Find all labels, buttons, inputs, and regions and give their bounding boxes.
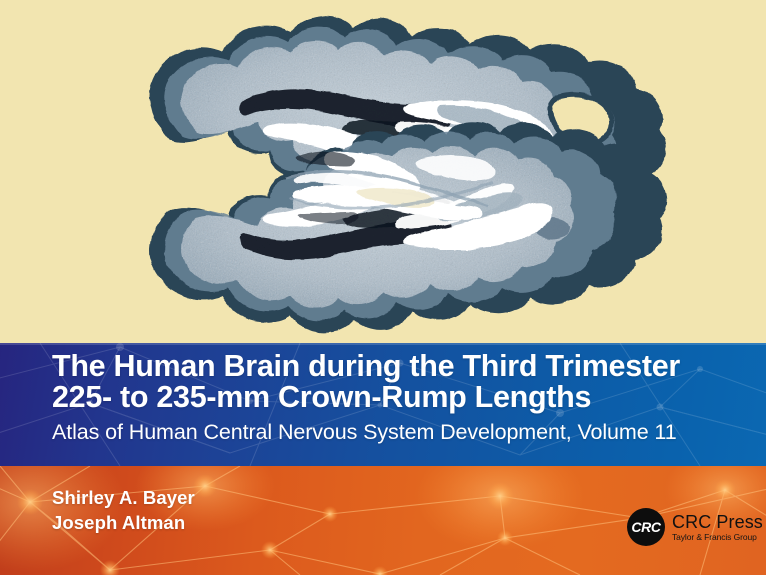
publisher-text: CRC Press Taylor & Francis Group — [672, 513, 763, 542]
author-list: Shirley A. Bayer Joseph Altman — [52, 485, 195, 535]
author-name-1: Shirley A. Bayer — [52, 485, 195, 510]
title-line-2: 225- to 235-mm Crown-Rump Lengths — [52, 382, 746, 413]
title-text-group: The Human Brain during the Third Trimest… — [52, 351, 746, 445]
crc-monogram: CRC — [627, 519, 665, 535]
publisher-tagline: Taylor & Francis Group — [672, 533, 763, 542]
title-band: The Human Brain during the Third Trimest… — [0, 343, 766, 466]
band-divider — [0, 343, 766, 345]
title-line-1: The Human Brain during the Third Trimest… — [52, 351, 746, 382]
author-name-2: Joseph Altman — [52, 510, 195, 535]
crc-roundel-icon: CRC — [627, 508, 665, 546]
publisher-name: CRC Press — [672, 513, 763, 531]
cover-illustration-band — [0, 0, 766, 343]
brain-histology-section — [0, 0, 766, 343]
book-cover: The Human Brain during the Third Trimest… — [0, 0, 766, 575]
crc-press-logo: CRC CRC Press Taylor & Francis Group — [627, 508, 763, 546]
series-subtitle: Atlas of Human Central Nervous System De… — [52, 419, 746, 445]
